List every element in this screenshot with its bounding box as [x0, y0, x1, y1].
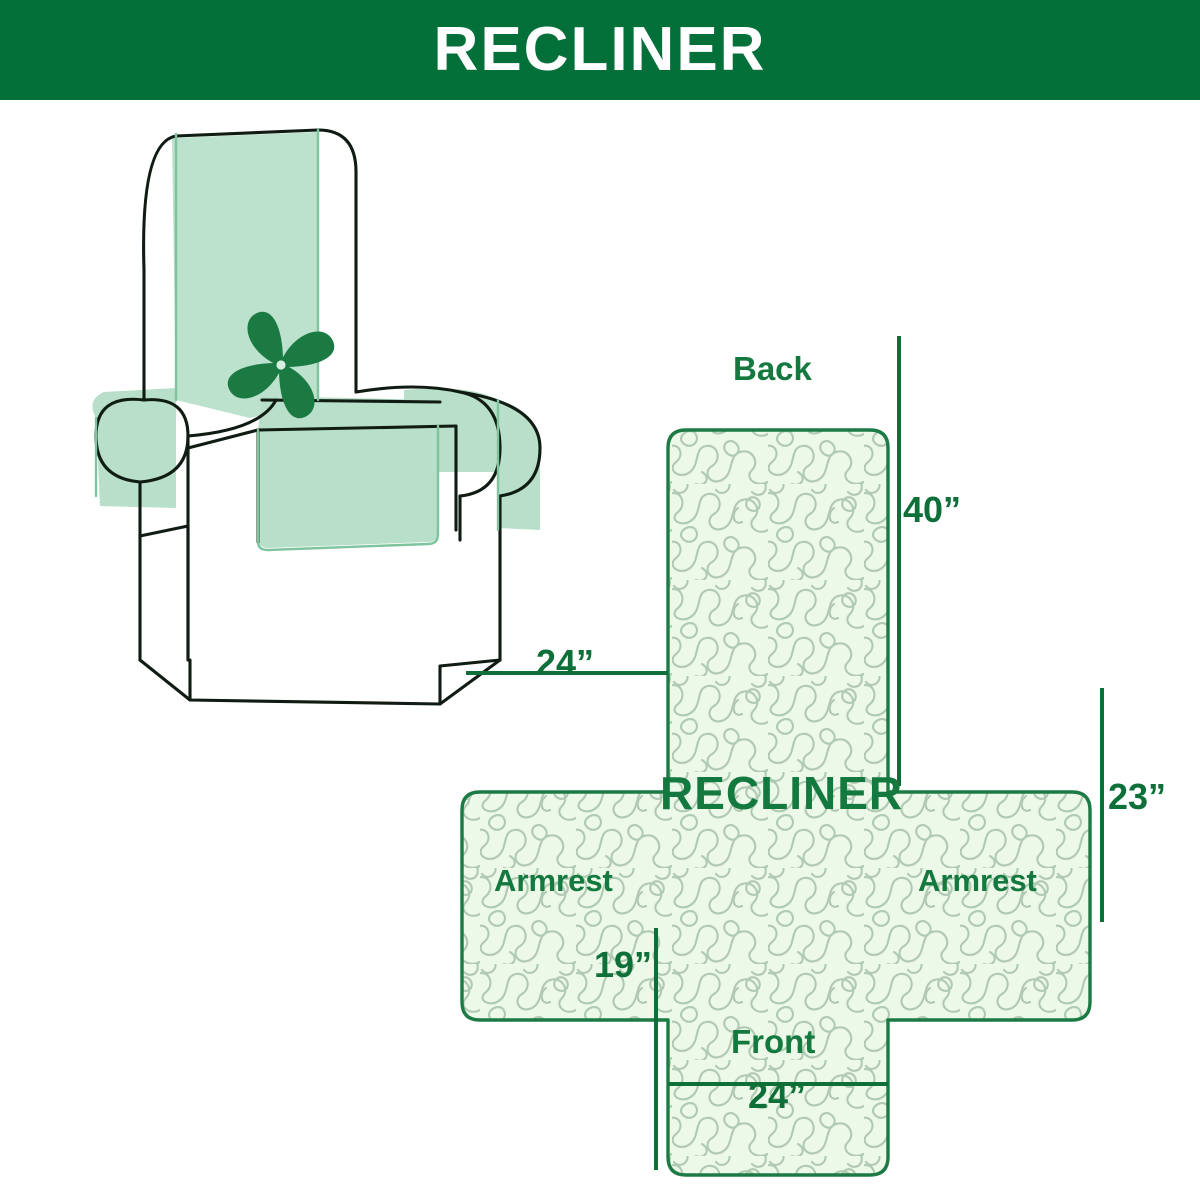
header-banner: RECLINER [0, 0, 1200, 100]
chair-right-arm-roll [498, 400, 540, 530]
diagram-stage: Back RECLINER Armrest Armrest Front 40” … [0, 100, 1200, 1200]
chair-base-left [140, 526, 188, 660]
dimension-label-top-width: 24” [536, 645, 594, 681]
chair-base-outline [140, 546, 500, 704]
diagram-artwork [0, 100, 1200, 1200]
panel-label-armrest-left: Armrest [494, 865, 613, 896]
panel-label-back: Back [733, 352, 812, 385]
recliner-chair-illustration [92, 130, 540, 704]
dimension-label-front-depth: 19” [594, 947, 652, 983]
chair-left-arm-cover [92, 388, 176, 508]
panel-label-armrest-right: Armrest [918, 865, 1037, 896]
page-title: RECLINER [434, 19, 767, 81]
dimension-label-front-width: 24” [748, 1078, 806, 1114]
panel-label-front: Front [731, 1025, 815, 1058]
dimension-label-side-depth: 23” [1108, 779, 1166, 815]
panel-label-center: RECLINER [660, 770, 903, 816]
dimension-label-back-height: 40” [903, 492, 961, 528]
